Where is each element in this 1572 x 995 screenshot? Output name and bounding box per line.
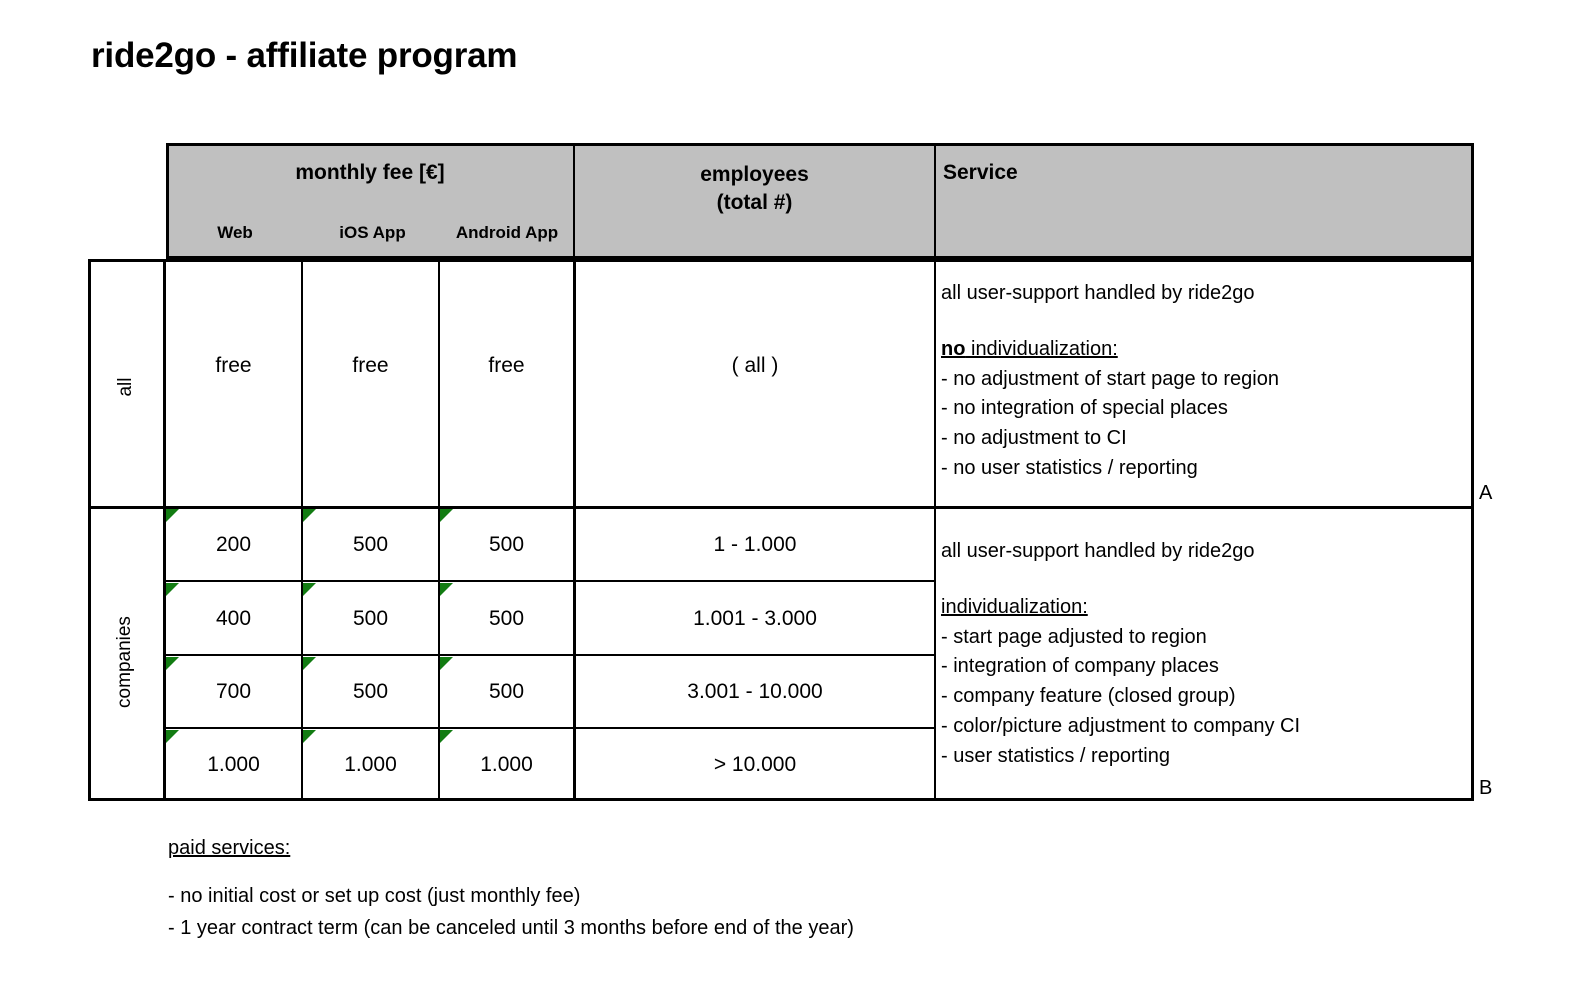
green-corner-marker-icon	[440, 730, 453, 743]
cell-companies-employees-4: > 10.000	[576, 745, 934, 785]
hrule-company-row-3	[163, 727, 934, 729]
cell-all-ios: free	[303, 346, 438, 386]
header-divider-employees-service	[934, 143, 936, 259]
header-col-web: Web	[166, 223, 304, 243]
cell-all-employees: ( all )	[576, 346, 934, 386]
service-bullet: - integration of company places	[941, 655, 1219, 677]
header-col-ios-app: iOS App	[304, 223, 441, 243]
row-group-label-companies: companies	[114, 607, 136, 717]
service-heading-all: no individualization:	[941, 338, 1118, 360]
cell-all-service: all user-support handled by ride2go no i…	[941, 279, 1461, 484]
service-bullet: - no adjustment to CI	[941, 427, 1127, 449]
cell-companies-web-3: 700	[166, 672, 301, 712]
cell-companies-android-3: 500	[440, 672, 573, 712]
cell-companies-web-1: 200	[166, 525, 301, 565]
hrule-company-row-2	[163, 654, 934, 656]
header-employees-main: employees	[700, 163, 809, 186]
cell-companies-employees-1: 1 - 1.000	[576, 525, 934, 565]
service-intro-companies: all user-support handled by ride2go	[941, 540, 1255, 562]
service-bullet: - company feature (closed group)	[941, 685, 1236, 707]
footer-line: - 1 year contract term (can be canceled …	[168, 913, 854, 943]
service-bullet: - start page adjusted to region	[941, 626, 1207, 648]
header-employees: employees (total #)	[575, 161, 934, 216]
green-corner-marker-icon	[440, 657, 453, 670]
footer-notes: paid services: - no initial cost or set …	[168, 833, 854, 945]
row-group-label-all: all	[115, 362, 137, 412]
side-marker-b: B	[1479, 777, 1492, 800]
service-intro-all: all user-support handled by ride2go	[941, 282, 1255, 304]
cell-all-android: free	[440, 346, 573, 386]
page-title: ride2go - affiliate program	[91, 36, 517, 76]
cell-companies-android-2: 500	[440, 599, 573, 639]
green-corner-marker-icon	[303, 730, 316, 743]
cell-companies-web-4: 1.000	[166, 745, 301, 785]
cell-all-web: free	[166, 346, 301, 386]
header-monthly-fee: monthly fee [€]	[166, 161, 574, 185]
cell-companies-employees-2: 1.001 - 3.000	[576, 599, 934, 639]
green-corner-marker-icon	[440, 509, 453, 522]
footer-lines: - no initial cost or set up cost (just m…	[168, 881, 854, 943]
service-heading-rest-all: individualization:	[965, 338, 1117, 360]
vrule-employees-service	[934, 259, 936, 801]
service-bullet: - no user statistics / reporting	[941, 457, 1198, 479]
pricing-table: monthly fee [€] Web iOS App Android App …	[88, 143, 1474, 801]
service-heading-bold-all: no	[941, 338, 965, 360]
header-service: Service	[943, 161, 1018, 185]
service-spacer	[941, 567, 1461, 593]
green-corner-marker-icon	[166, 583, 179, 596]
cell-companies-android-1: 500	[440, 525, 573, 565]
cell-companies-ios-1: 500	[303, 525, 438, 565]
green-corner-marker-icon	[166, 509, 179, 522]
service-bullet: - color/picture adjustment to company CI	[941, 715, 1300, 737]
footer-heading: paid services:	[168, 833, 854, 863]
green-corner-marker-icon	[440, 583, 453, 596]
hrule-company-row-1	[163, 580, 934, 582]
service-bullet: - no integration of special places	[941, 397, 1228, 419]
green-corner-marker-icon	[166, 657, 179, 670]
service-bullet: - no adjustment of start page to region	[941, 368, 1279, 390]
cell-companies-ios-3: 500	[303, 672, 438, 712]
cell-companies-employees-3: 3.001 - 10.000	[576, 672, 934, 712]
cell-companies-android-4: 1.000	[440, 745, 573, 785]
header-employees-sub: (total #)	[717, 191, 793, 214]
cell-companies-web-2: 400	[166, 599, 301, 639]
green-corner-marker-icon	[303, 509, 316, 522]
side-marker-a: A	[1479, 482, 1492, 505]
service-bullet: - user statistics / reporting	[941, 745, 1170, 767]
cell-companies-ios-2: 500	[303, 599, 438, 639]
hrule-all-companies	[88, 506, 1474, 509]
cell-companies-ios-4: 1.000	[303, 745, 438, 785]
service-heading-rest-companies: individualization:	[941, 596, 1088, 618]
cell-companies-service: all user-support handled by ride2go indi…	[941, 537, 1461, 772]
service-spacer	[941, 309, 1461, 335]
service-heading-companies: individualization:	[941, 596, 1088, 618]
header-col-android-app: Android App	[441, 223, 573, 243]
green-corner-marker-icon	[166, 730, 179, 743]
footer-line: - no initial cost or set up cost (just m…	[168, 881, 854, 911]
green-corner-marker-icon	[303, 583, 316, 596]
green-corner-marker-icon	[303, 657, 316, 670]
